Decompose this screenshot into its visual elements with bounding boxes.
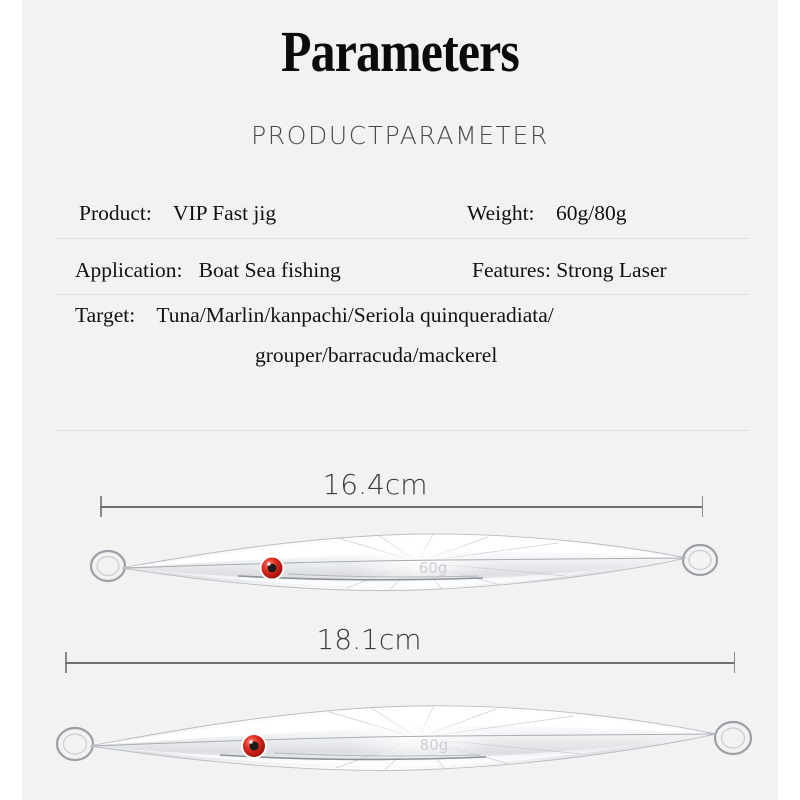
caliper-cap-right [702,496,704,517]
caliper-bar [100,506,703,508]
spec-cell-application: Application: Boat Sea fishing [75,258,341,283]
tow-ring-left [57,728,93,760]
spec-label-application: Application: [75,258,182,282]
spec-value-product: VIP Fast jig [173,201,276,225]
tow-ring-right [715,722,751,754]
spec-cell-product: Product: VIP Fast jig [79,201,276,226]
tow-ring-right [683,545,717,575]
table-row: Product: VIP Fast jig Weight: 60g/80g [57,188,749,239]
weight-marking-1: 60g [419,559,448,577]
spec-cell-target: Target: Tuna/Marlin/kanpachi/Seriola qui… [75,303,554,328]
jig-lure-60g: 60g [88,524,720,604]
spec-value-weight: 60g/80g [556,201,626,225]
spec-value-target-line1: Tuna/Marlin/kanpachi/Seriola quinqueradi… [156,303,553,327]
table-row: Application: Boat Sea fishing Features: … [57,239,749,295]
jig-lure-80g: 80g [54,694,754,786]
lure-eye [241,733,267,759]
spec-cell-features: Features: Strong Laser [472,258,667,283]
page-subtitle: PRODUCTPARAMETER [22,121,778,151]
product-parameter-page: Parameters PRODUCTPARAMETER Product: VIP… [22,0,778,800]
spec-table: Product: VIP Fast jig Weight: 60g/80g Ap… [57,188,749,391]
table-row: Target: Tuna/Marlin/kanpachi/Seriola qui… [57,295,749,391]
caliper-cap-right [734,652,736,673]
spec-value-features: Strong Laser [556,258,666,282]
spec-value-application: Boat Sea fishing [199,258,341,282]
spec-cell-weight: Weight: 60g/80g [467,201,627,226]
spec-value-target-line2: grouper/barracuda/mackerel [255,343,497,368]
spec-label-weight: Weight: [467,201,535,225]
spec-label-product: Product: [79,201,152,225]
caliper-bar [65,662,735,664]
section-divider [57,430,749,431]
tow-ring-left [91,551,125,581]
spec-label-target: Target: [75,303,135,327]
weight-marking-2: 80g [420,736,449,754]
caliper-2 [65,652,735,674]
spec-label-features: Features: [472,258,551,282]
caliper-1 [100,496,703,518]
page-title: Parameters [75,20,725,84]
lure-eye [260,556,285,581]
